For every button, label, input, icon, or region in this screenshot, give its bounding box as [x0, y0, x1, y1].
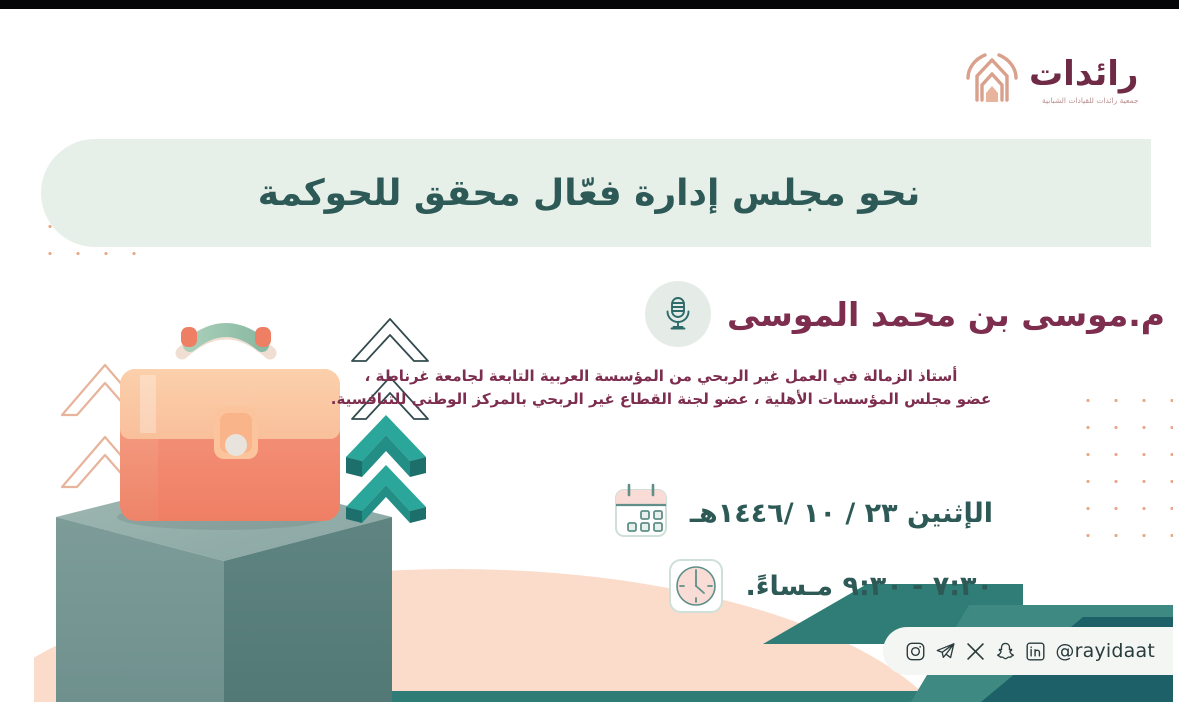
title-banner: نحو مجلس إدارة فعّال محقق للحوكمة: [41, 139, 1151, 247]
teal-3d-chevrons-icon: [324, 309, 454, 524]
snapchat-icon[interactable]: [995, 641, 1016, 662]
letterbox-right: [1173, 9, 1179, 702]
briefcase-handle: [181, 327, 271, 353]
event-poster: رائدات جمعية رائدات للقيادات الشبابية نح…: [0, 0, 1179, 702]
logo-subtitle: جمعية رائدات للقيادات الشبابية: [1029, 96, 1138, 105]
logo-wordmark: رائدات: [1029, 57, 1138, 91]
speaker-bio-line-1: أستاذ الزمالة في العمل غير الربحي من الم…: [281, 365, 1041, 388]
organization-logo: رائدات جمعية رائدات للقيادات الشبابية: [961, 39, 1161, 123]
microphone-badge: [645, 281, 711, 347]
poster-canvas: رائدات جمعية رائدات للقيادات الشبابية نح…: [34, 9, 1173, 702]
letterbox-left: [0, 9, 34, 702]
rayidaat-logo-mark-icon: [961, 48, 1023, 114]
social-handle: @rayidaat: [1055, 640, 1155, 662]
x-twitter-icon[interactable]: [965, 641, 986, 662]
clock-icon: [665, 555, 727, 617]
telegram-icon[interactable]: [935, 641, 956, 662]
event-date-row: الإثنين ٢٣ / ١٠ /١٤٤٦هـ: [610, 482, 993, 544]
social-bar[interactable]: @rayidaat: [883, 627, 1173, 675]
speaker-bio: أستاذ الزمالة في العمل غير الربحي من الم…: [281, 365, 1041, 412]
event-time-text: ٧:٣٠ - ٩:٣٠ مـساءً.: [745, 571, 993, 602]
calendar-icon: [610, 482, 672, 544]
event-time-row: ٧:٣٠ - ٩:٣٠ مـساءً.: [665, 555, 993, 617]
instagram-icon[interactable]: [905, 641, 926, 662]
speaker-bio-line-2: عضو مجلس المؤسسات الأهلية ، عضو لجنة الق…: [281, 388, 1041, 411]
logo-text-block: رائدات جمعية رائدات للقيادات الشبابية: [1029, 57, 1138, 105]
page-title: نحو مجلس إدارة فعّال محقق للحوكمة: [67, 173, 1151, 214]
microphone-icon: [661, 295, 695, 333]
linkedin-icon[interactable]: [1025, 641, 1046, 662]
event-date-text: الإثنين ٢٣ / ١٠ /١٤٤٦هـ: [690, 498, 993, 529]
letterbox-top: [0, 0, 1179, 9]
speaker-name: م.موسى بن محمد الموسى: [727, 295, 1165, 334]
speaker-block: م.موسى بن محمد الموسى: [645, 281, 1165, 347]
decor-dot-grid-right: [1074, 387, 1173, 555]
